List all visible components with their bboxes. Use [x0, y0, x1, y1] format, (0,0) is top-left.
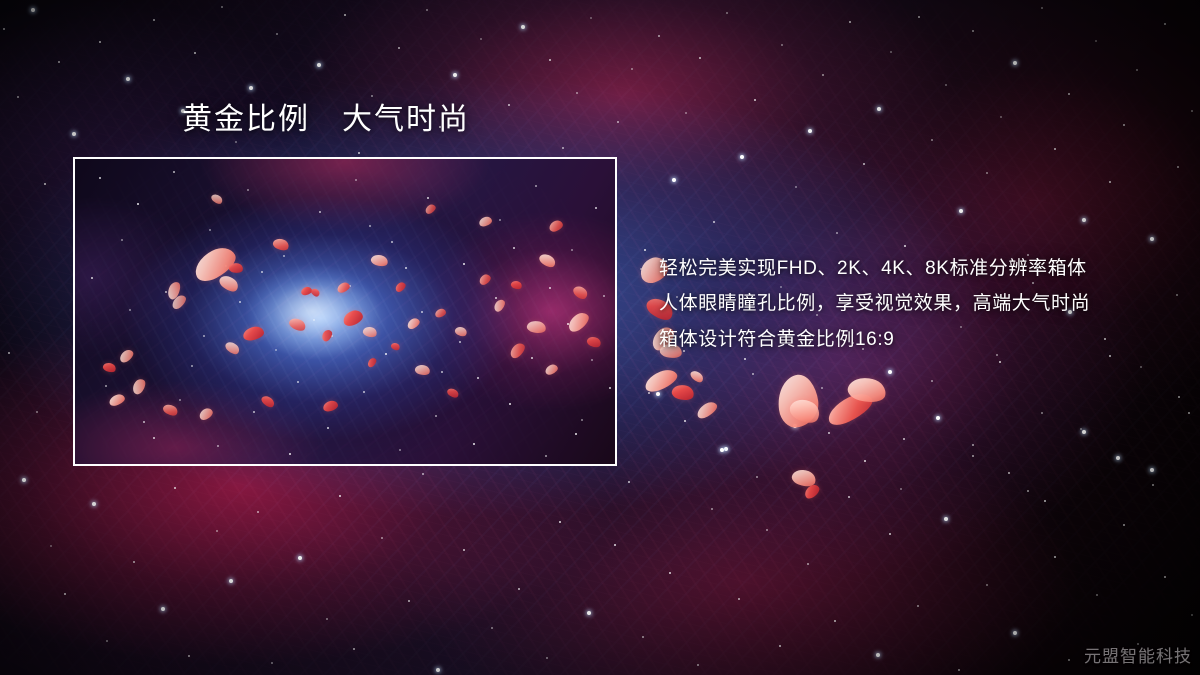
body-line-1: 轻松完美实现FHD、2K、4K、8K标准分辨率箱体: [659, 258, 1179, 279]
petal: [824, 389, 877, 430]
petal: [694, 399, 719, 420]
petal: [670, 382, 695, 402]
petal: [689, 368, 705, 384]
petal: [846, 374, 889, 406]
petal: [790, 466, 818, 489]
product-image: [75, 159, 615, 464]
page-title: 黄金比例 大气时尚: [182, 102, 470, 138]
inner-nebula-core: [75, 159, 615, 464]
petal: [775, 372, 822, 429]
watermark: 元盟智能科技: [1084, 642, 1192, 667]
petal: [802, 482, 821, 500]
petal: [787, 394, 824, 428]
petal: [642, 366, 680, 394]
body-copy: 轻松完美实现FHD、2K、4K、8K标准分辨率箱体 人体眼睛瞳孔比例，享受视觉效…: [659, 258, 1179, 350]
body-line-3: 箱体设计符合黄金比例16:9: [659, 329, 1179, 350]
presentation-slide: 黄金比例 大气时尚 轻松完美实现FHD、2K、4K、8K标准分辨率箱体 人体眼睛…: [0, 0, 1200, 675]
product-image-frame[interactable]: [73, 157, 617, 466]
body-line-2: 人体眼睛瞳孔比例，享受视觉效果，高端大气时尚: [659, 293, 1179, 314]
